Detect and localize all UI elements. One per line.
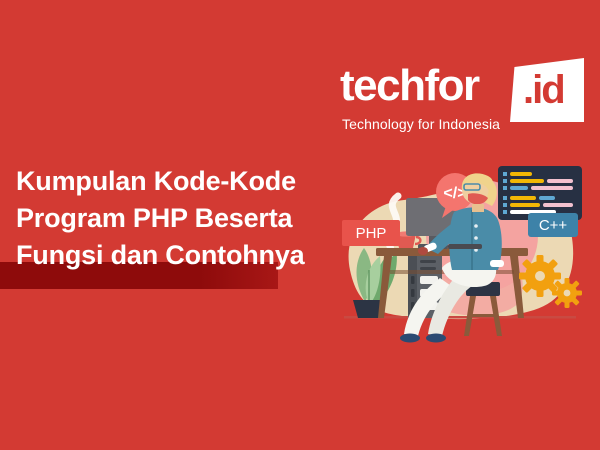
logo-dot: . [523,68,532,112]
logo-wordmark: techfor [340,64,479,108]
code-screen [498,166,582,220]
cpp-badge-label: C++ [539,217,568,234]
page-title: Kumpulan Kode-Kode Program PHP Beserta F… [16,163,366,274]
developer-at-desk-illustration: </> [320,150,600,350]
logo-tagline: Technology for Indonesia [342,116,500,132]
cpp-badge: C++ [528,213,578,237]
logo-domain-id: .id [523,70,564,110]
person-shoe-back [426,334,446,343]
page-title-line-3: Fungsi dan Contohnya [16,237,366,274]
person-shoe-front [400,334,420,343]
techforid-logo: techfor .id Technology for Indonesia [340,60,570,140]
php-badge-label: PHP [356,225,387,242]
page-title-line-2: Program PHP Beserta [16,200,366,237]
gear-large-hole [535,271,545,281]
person-hand [418,247,428,255]
logo-id-text: id [532,68,564,112]
php-badge: PHP [342,220,400,246]
banner-card: techfor .id Technology for Indonesia Kum… [0,0,600,450]
gear-small-hole [564,290,571,297]
person-neck [472,204,484,212]
person-cuff-right [490,260,504,267]
page-title-line-1: Kumpulan Kode-Kode [16,163,366,200]
keyboard [448,244,482,249]
